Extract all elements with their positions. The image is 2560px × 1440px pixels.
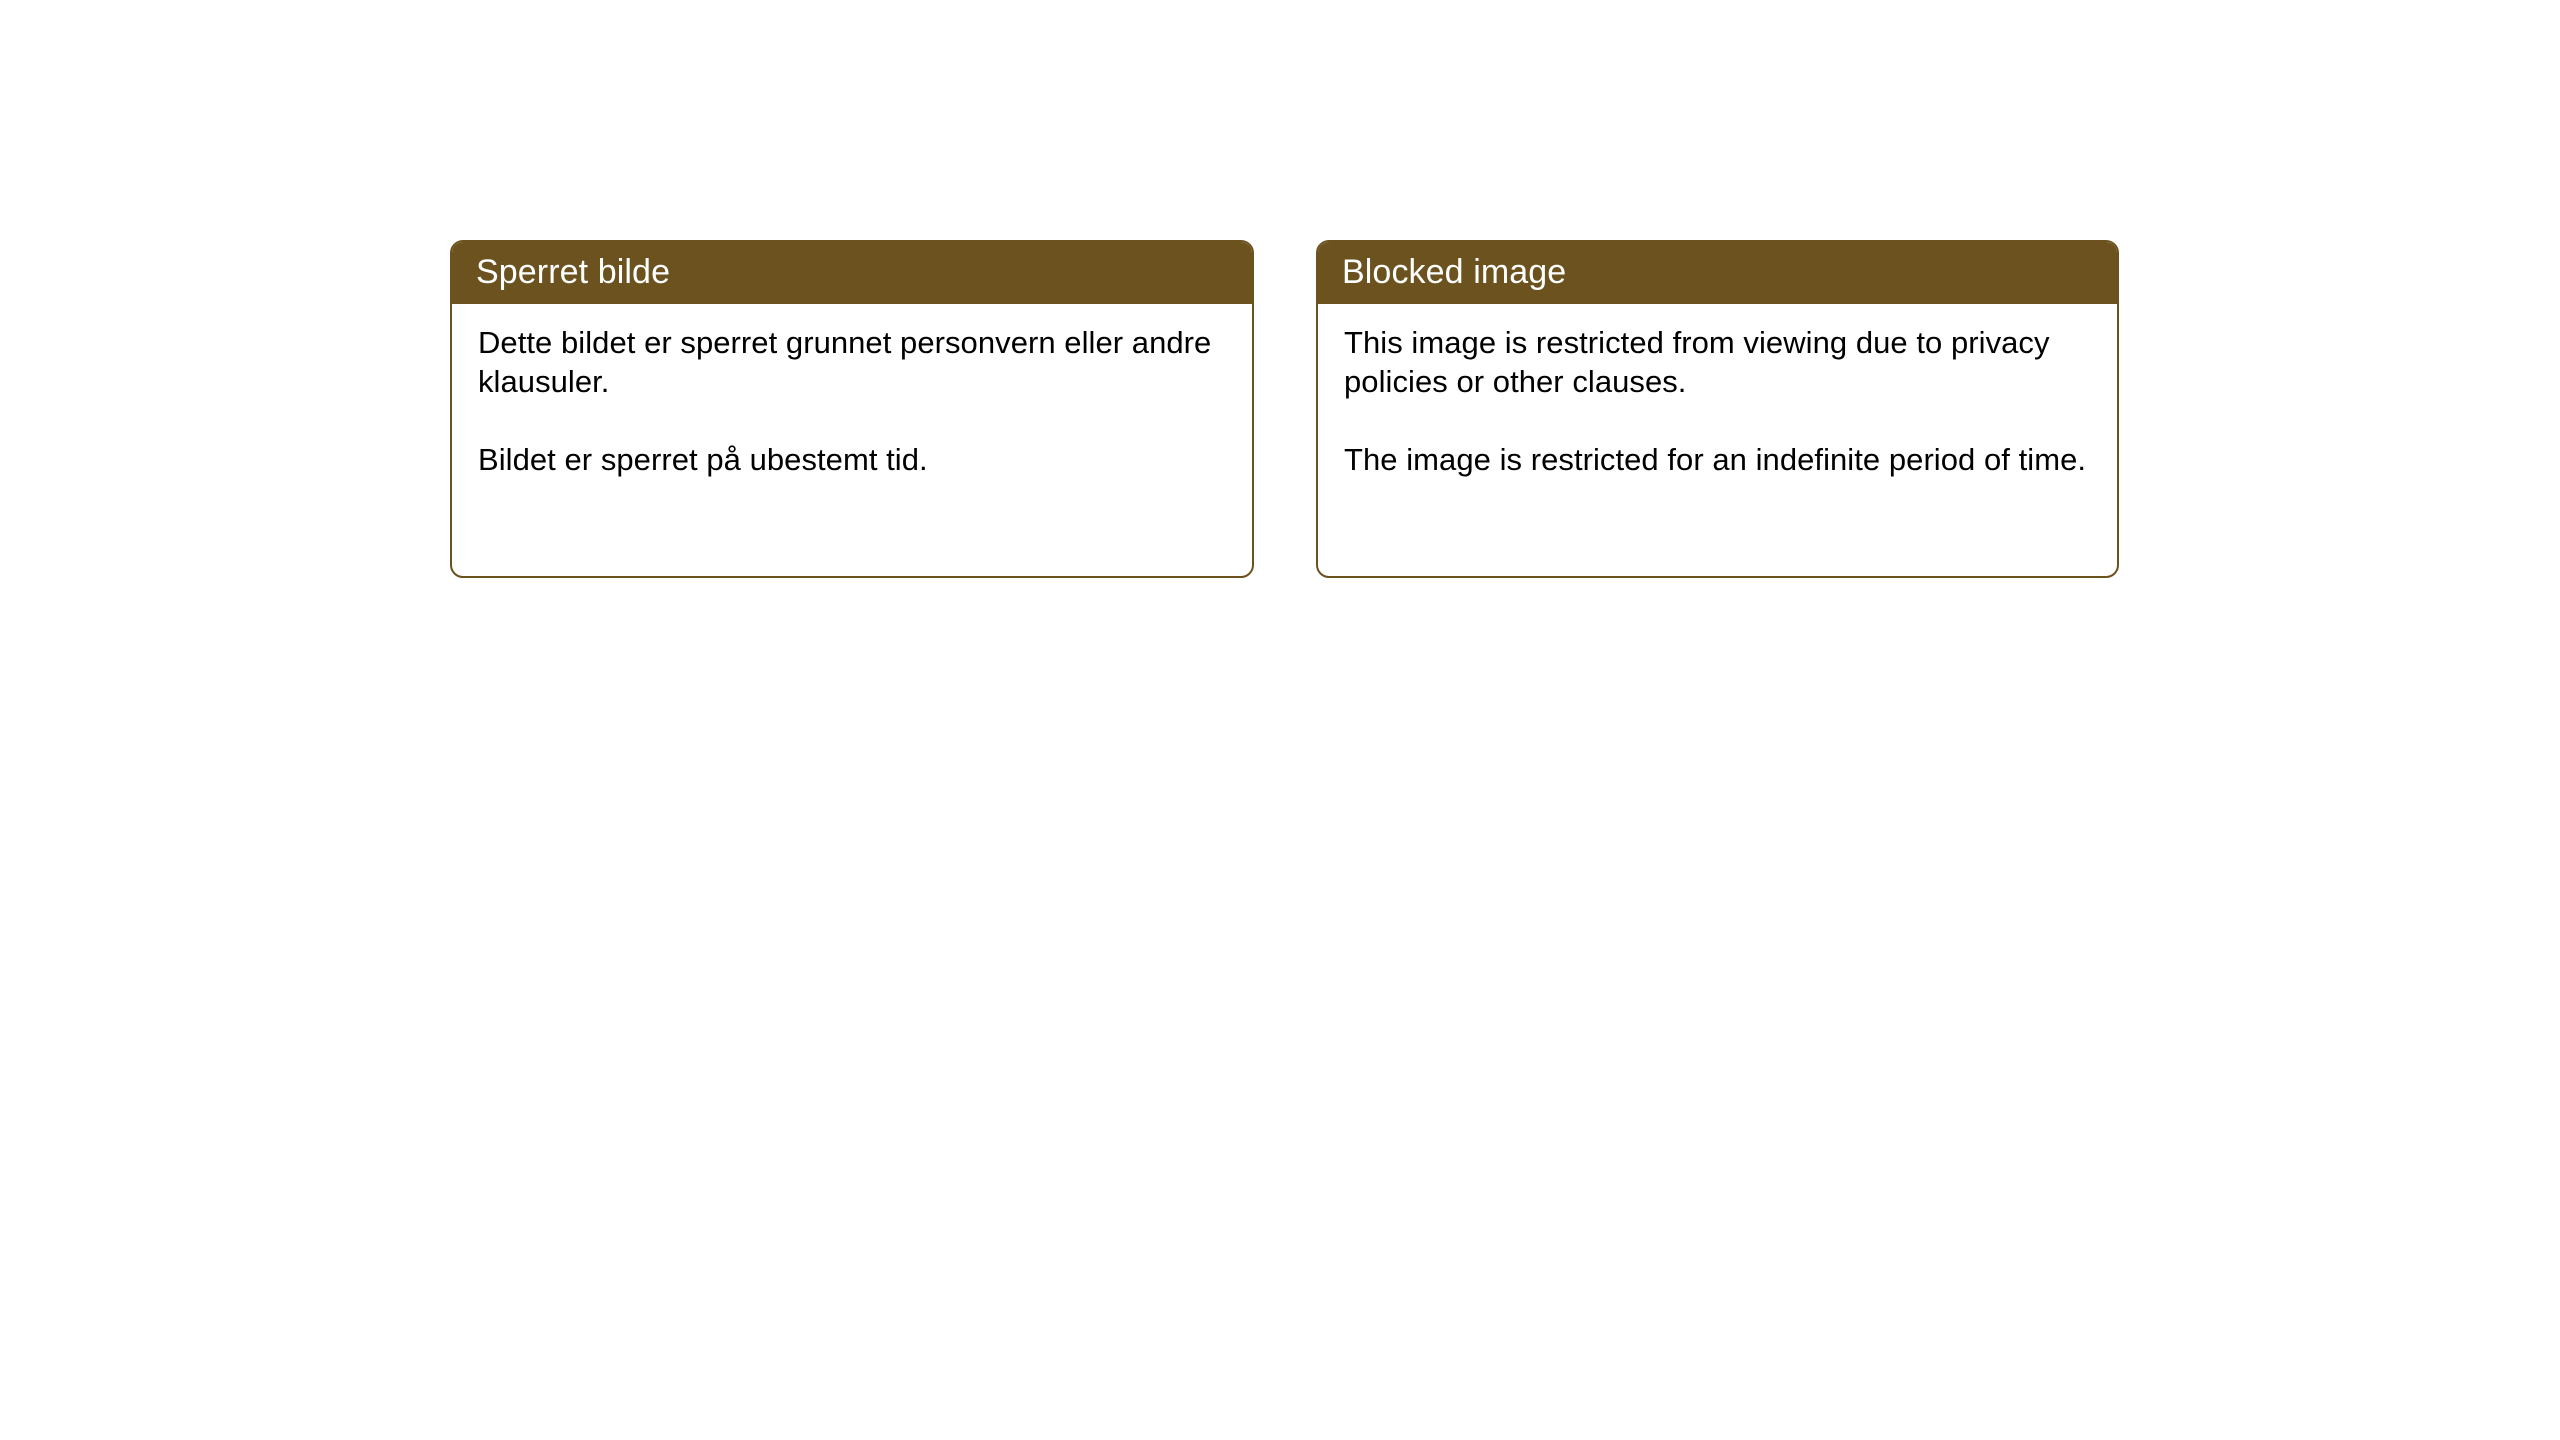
paragraph-spacer-norwegian [478, 401, 1226, 440]
card-body-norwegian: Dette bildet er sperret grunnet personve… [452, 304, 1252, 479]
paragraph-spacer-english [1344, 401, 2091, 440]
card-paragraph-secondary-english: The image is restricted for an indefinit… [1344, 440, 2091, 479]
card-paragraph-primary-norwegian: Dette bildet er sperret grunnet personve… [478, 323, 1226, 401]
card-body-english: This image is restricted from viewing du… [1318, 304, 2117, 479]
page-canvas: Sperret bilde Dette bildet er sperret gr… [0, 0, 2560, 1440]
blocked-image-notice-card-english: Blocked image This image is restricted f… [1316, 240, 2119, 578]
card-header-english: Blocked image [1316, 240, 2119, 304]
card-title-norwegian: Sperret bilde [476, 255, 670, 289]
card-title-english: Blocked image [1342, 255, 1566, 289]
blocked-image-notice-card-norwegian: Sperret bilde Dette bildet er sperret gr… [450, 240, 1254, 578]
card-paragraph-secondary-norwegian: Bildet er sperret på ubestemt tid. [478, 440, 1226, 479]
card-header-norwegian: Sperret bilde [450, 240, 1254, 304]
card-paragraph-primary-english: This image is restricted from viewing du… [1344, 323, 2091, 401]
